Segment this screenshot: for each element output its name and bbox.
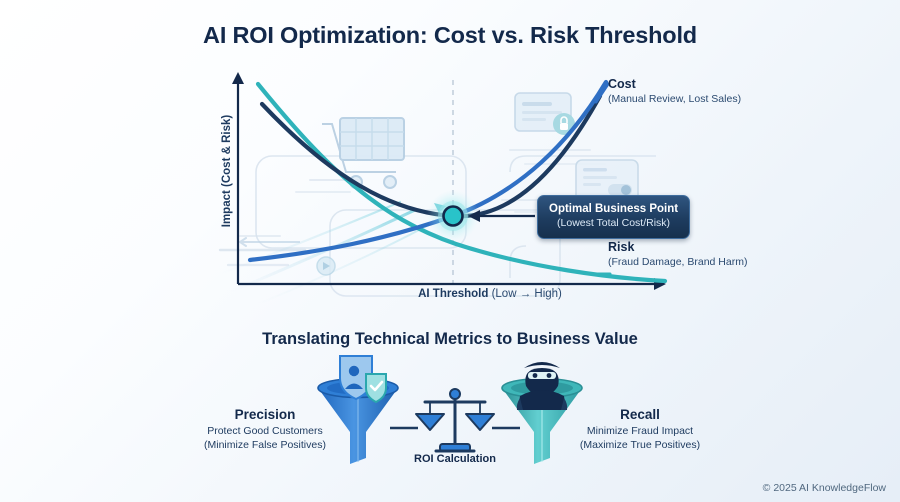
optimal-point-callout[interactable]: Optimal Business Point (Lowest Total Cos… bbox=[537, 195, 690, 239]
recall-title: Recall bbox=[545, 406, 735, 424]
cost-series-title: Cost bbox=[608, 77, 741, 93]
copyright-footer: © 2025 AI KnowledgeFlow bbox=[763, 482, 886, 494]
precision-line2: (Minimize False Positives) bbox=[170, 438, 360, 452]
x-axis-label-rest: (Low → High) bbox=[488, 288, 562, 300]
precision-block: Precision Protect Good Customers (Minimi… bbox=[170, 406, 360, 452]
cost-series-subtitle: (Manual Review, Lost Sales) bbox=[608, 93, 741, 107]
node-dot-icon bbox=[317, 257, 335, 275]
precision-title: Precision bbox=[170, 406, 360, 424]
infographic-canvas: AI ROI Optimization: Cost vs. Risk Thres… bbox=[0, 0, 900, 502]
callout-title: Optimal Business Point bbox=[549, 202, 678, 217]
callout-subtitle: (Lowest Total Cost/Risk) bbox=[549, 217, 678, 231]
recall-line1: Minimize Fraud Impact bbox=[545, 424, 735, 438]
secure-card-icon bbox=[515, 93, 575, 135]
x-axis-label-bold: AI Threshold bbox=[418, 288, 488, 300]
roi-calculation-label: ROI Calculation bbox=[380, 453, 530, 465]
risk-series-subtitle: (Fraud Damage, Brand Harm) bbox=[608, 256, 747, 270]
shopping-cart-icon bbox=[322, 118, 404, 188]
precision-line1: Protect Good Customers bbox=[170, 424, 360, 438]
y-axis-label: Impact (Cost & Risk) bbox=[221, 91, 233, 251]
precision-recall-diagram bbox=[0, 352, 900, 492]
verified-badge-icon bbox=[366, 374, 386, 402]
cost-series-label: Cost (Manual Review, Lost Sales) bbox=[608, 77, 741, 106]
page-title: AI ROI Optimization: Cost vs. Risk Thres… bbox=[0, 22, 900, 49]
x-axis-label: AI Threshold (Low → High) bbox=[310, 288, 670, 300]
node-arrow-icon bbox=[240, 238, 300, 246]
recall-block: Recall Minimize Fraud Impact (Maximize T… bbox=[545, 406, 735, 452]
bottom-section-heading: Translating Technical Metrics to Busines… bbox=[0, 330, 900, 349]
chart-area: Impact (Cost & Risk) AI Threshold (Low →… bbox=[210, 60, 770, 310]
risk-series-label: Risk (Fraud Damage, Brand Harm) bbox=[608, 240, 747, 269]
balance-scale-icon bbox=[416, 389, 494, 451]
risk-series-title: Risk bbox=[608, 240, 747, 256]
recall-line2: (Maximize True Positives) bbox=[545, 438, 735, 452]
